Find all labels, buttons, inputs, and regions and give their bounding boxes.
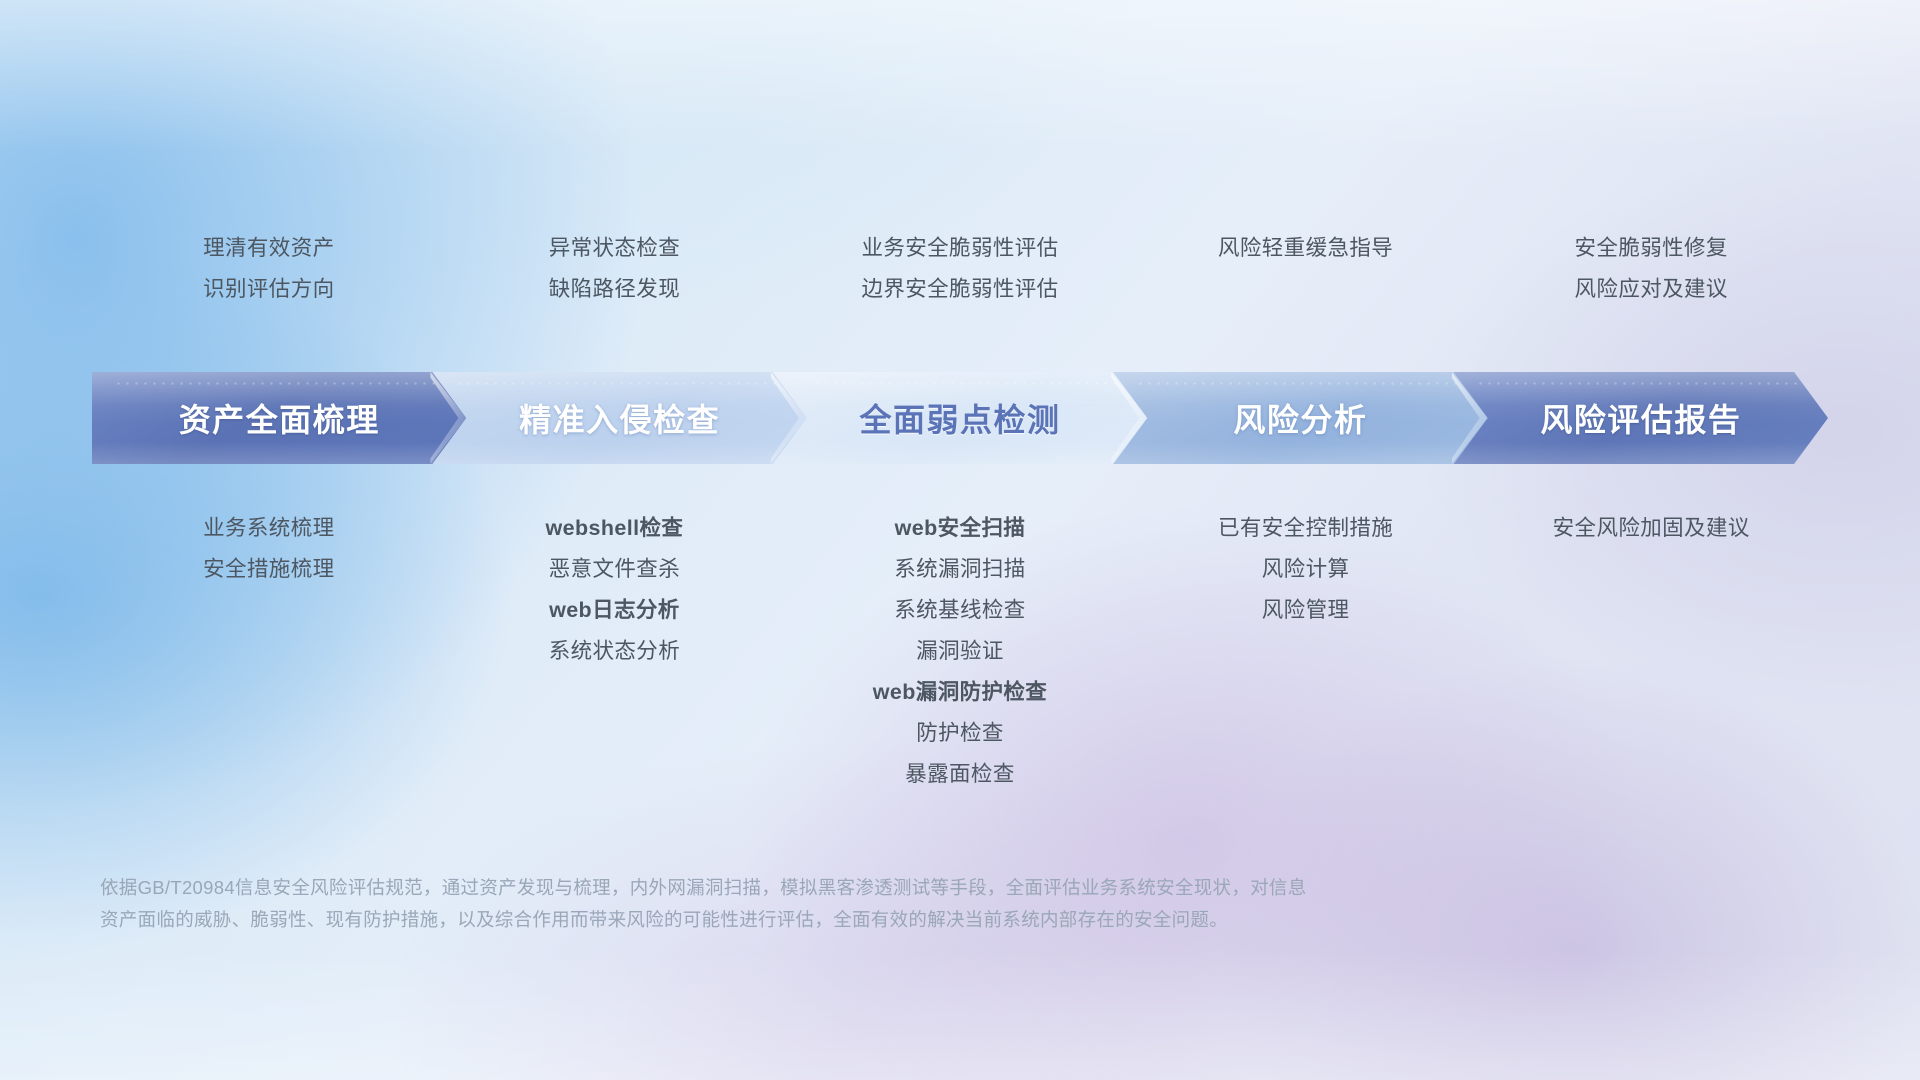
top-note: 业务安全脆弱性评估 — [787, 228, 1133, 269]
bottom-notes-column-3: web安全扫描 系统漏洞扫描 系统基线检查 漏洞验证 web漏洞防护检查 防护检… — [787, 508, 1133, 795]
top-note: 理清有效资产 — [96, 228, 442, 269]
process-step-intrusion-check[interactable]: 精准入侵检查 — [432, 372, 806, 464]
process-diagram-stage: 理清有效资产 识别评估方向 异常状态检查 缺陷路径发现 业务安全脆弱性评估 边界… — [0, 0, 1920, 1080]
process-step-label: 全面弱点检测 — [860, 395, 1061, 441]
process-step-label: 风险评估报告 — [1540, 395, 1741, 441]
bottom-note: web日志分析 — [442, 590, 788, 631]
bottom-note: 恶意文件查杀 — [442, 549, 788, 590]
bottom-notes-column-1: 业务系统梳理 安全措施梳理 — [96, 508, 442, 795]
top-note: 安全脆弱性修复 — [1478, 228, 1824, 269]
process-step-label: 精准入侵检查 — [519, 395, 720, 441]
process-step-risk-analysis[interactable]: 风险分析 — [1113, 372, 1487, 464]
top-notes-column-5: 安全脆弱性修复 风险应对及建议 — [1478, 228, 1824, 310]
bottom-notes-row: 业务系统梳理 安全措施梳理 webshell检查 恶意文件查杀 web日志分析 … — [96, 508, 1824, 795]
top-notes-column-1: 理清有效资产 识别评估方向 — [96, 228, 442, 310]
bottom-note: 风险管理 — [1133, 590, 1479, 631]
bottom-note: web安全扫描 — [787, 508, 1133, 549]
bottom-notes-column-2: webshell检查 恶意文件查杀 web日志分析 系统状态分析 — [442, 508, 788, 795]
bottom-note: 已有安全控制措施 — [1133, 508, 1479, 549]
bottom-note: 业务系统梳理 — [96, 508, 442, 549]
process-step-label: 风险分析 — [1233, 395, 1367, 441]
bottom-note: 系统漏洞扫描 — [787, 549, 1133, 590]
bottom-note: 系统基线检查 — [787, 590, 1133, 631]
bottom-notes-column-4: 已有安全控制措施 风险计算 风险管理 — [1133, 508, 1479, 795]
top-notes-row: 理清有效资产 识别评估方向 异常状态检查 缺陷路径发现 业务安全脆弱性评估 边界… — [96, 228, 1824, 310]
footer-line-2: 资产面临的威胁、脆弱性、现有防护措施，以及综合作用而带来风险的可能性进行评估，全… — [100, 904, 1630, 936]
process-chevron-banner: 资产全面梳理 精准入侵检查 全面弱点检测 风险分析 风险评估报告 — [92, 372, 1828, 464]
top-note: 风险轻重缓急指导 — [1133, 228, 1479, 269]
top-notes-column-4: 风险轻重缓急指导 — [1133, 228, 1479, 310]
bottom-note: 安全风险加固及建议 — [1478, 508, 1824, 549]
footer-line-1: 依据GB/T20984信息安全风险评估规范，通过资产发现与梳理，内外网漏洞扫描，… — [100, 872, 1630, 904]
top-note: 识别评估方向 — [96, 269, 442, 310]
bottom-note: webshell检查 — [442, 508, 788, 549]
top-note: 异常状态检查 — [442, 228, 788, 269]
bottom-note: 漏洞验证 — [787, 631, 1133, 672]
process-step-asset-inventory[interactable]: 资产全面梳理 — [92, 372, 466, 464]
top-notes-column-3: 业务安全脆弱性评估 边界安全脆弱性评估 — [787, 228, 1133, 310]
bottom-note: 安全措施梳理 — [96, 549, 442, 590]
top-notes-column-2: 异常状态检查 缺陷路径发现 — [442, 228, 788, 310]
bottom-note: web漏洞防护检查 — [787, 672, 1133, 713]
process-step-weakness-detection[interactable]: 全面弱点检测 — [773, 372, 1147, 464]
footer-description: 依据GB/T20984信息安全风险评估规范，通过资产发现与梳理，内外网漏洞扫描，… — [100, 872, 1630, 936]
process-step-risk-report[interactable]: 风险评估报告 — [1454, 372, 1828, 464]
bottom-note: 系统状态分析 — [442, 631, 788, 672]
top-note: 边界安全脆弱性评估 — [787, 269, 1133, 310]
bottom-note: 风险计算 — [1133, 549, 1479, 590]
bottom-note: 防护检查 — [787, 713, 1133, 754]
bottom-notes-column-5: 安全风险加固及建议 — [1478, 508, 1824, 795]
top-note: 缺陷路径发现 — [442, 269, 788, 310]
bottom-note: 暴露面检查 — [787, 754, 1133, 795]
process-step-label: 资产全面梳理 — [179, 395, 380, 441]
top-note: 风险应对及建议 — [1478, 269, 1824, 310]
